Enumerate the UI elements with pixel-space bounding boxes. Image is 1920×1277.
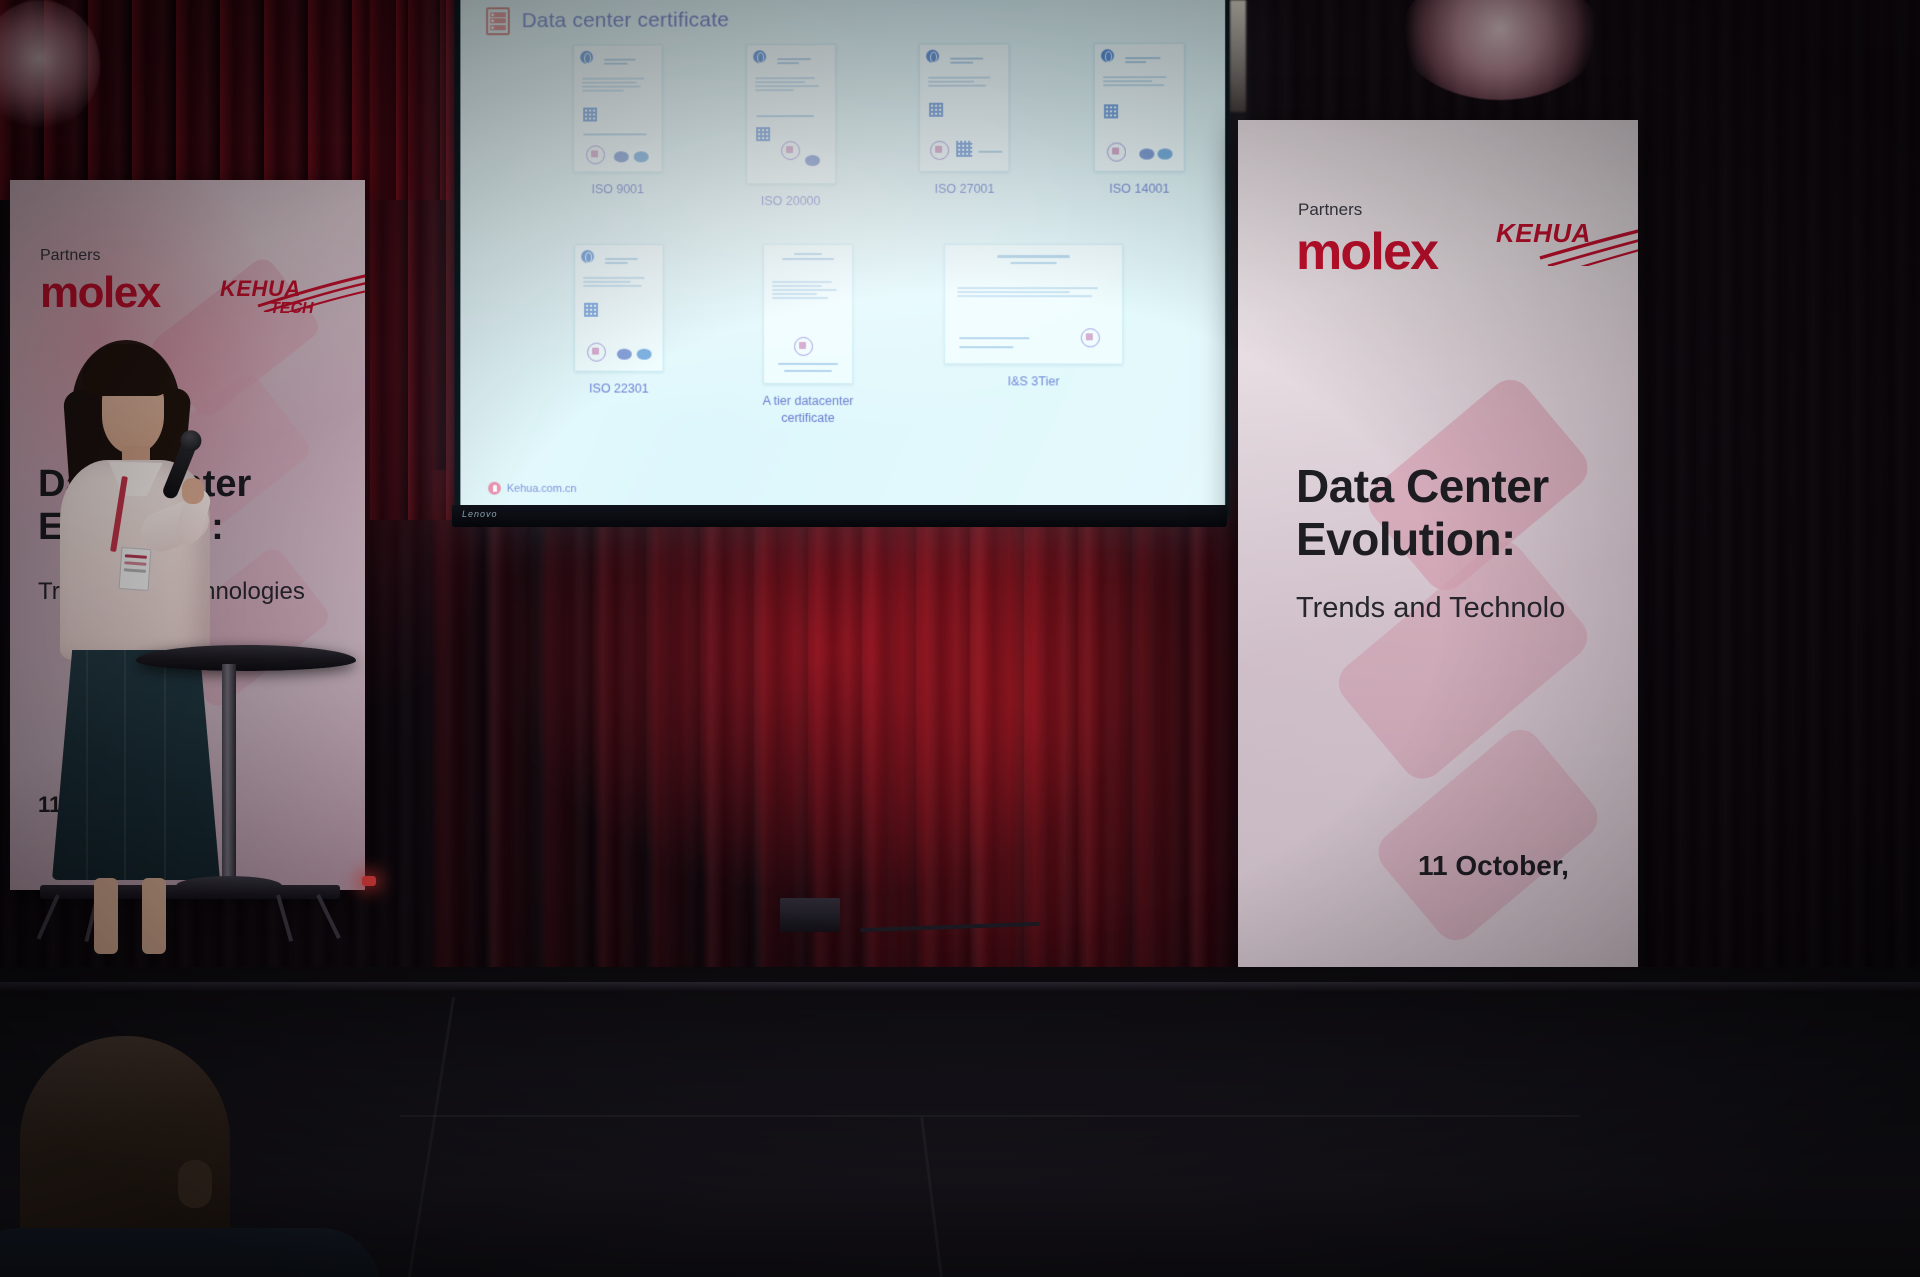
- audience-ear: [178, 1160, 212, 1208]
- audience-shoulder: [0, 1228, 380, 1277]
- certificate-image: [746, 44, 836, 184]
- banner-right-heading-line2: Evolution:: [1296, 513, 1516, 565]
- slide-surface: Data center certificate: [460, 0, 1225, 512]
- certificate-item: ISO 20000: [734, 44, 848, 210]
- banner-right-heading-line1: Data Center: [1296, 460, 1549, 512]
- certificate-image: [919, 43, 1009, 171]
- certificate-image: [1094, 43, 1185, 172]
- certificate-label: ISO 20000: [761, 193, 821, 210]
- certificate-item: ISO 27001: [908, 43, 1022, 209]
- certificate-item: ISO 9001: [561, 45, 674, 211]
- banner-right-partners-label: Partners: [1298, 200, 1362, 220]
- certificate-item: I&S 3Tier: [938, 244, 1129, 428]
- iaf-badge-icon: [617, 349, 632, 360]
- certificate-item: ISO 14001: [1082, 43, 1197, 210]
- floor-equipment-box: [780, 898, 840, 932]
- kehua-logo-icon: [488, 482, 501, 495]
- projector-brand-label: Lenovo: [462, 509, 498, 519]
- slide-footer: Kehua.com.cn: [488, 482, 576, 495]
- certificate-label: ISO 27001: [935, 181, 995, 198]
- certificate-label: I&S 3Tier: [1008, 373, 1060, 390]
- certificate-row-1: ISO 9001: [500, 43, 1197, 210]
- official-seal-icon: [1107, 143, 1126, 162]
- conference-photo: Data center certificate: [0, 0, 1920, 1277]
- cnas-badge-icon: [634, 151, 649, 162]
- certificate-label: ISO 14001: [1109, 181, 1169, 198]
- cepri-logo-icon: [753, 50, 766, 63]
- official-seal-icon: [781, 141, 800, 160]
- iaf-badge-icon: [805, 155, 820, 166]
- banner-right-heading: Data Center Evolution:: [1296, 460, 1549, 566]
- screen-bottom-bar: Lenovo: [452, 505, 1227, 527]
- podium-pole: [222, 664, 236, 884]
- iaf-badge-icon: [614, 151, 629, 162]
- banner-left-stand: [40, 885, 340, 945]
- official-seal-icon: [1081, 328, 1100, 347]
- certificate-image: [763, 244, 853, 384]
- certificate-image: [573, 45, 662, 173]
- certificate-image: [944, 244, 1123, 365]
- certificate-label: A tier datacenter certificate: [748, 393, 868, 427]
- presenter-name-badge: [119, 547, 152, 591]
- certificate-label: ISO 9001: [592, 181, 644, 198]
- official-seal-icon: [794, 337, 813, 356]
- cepri-logo-icon: [580, 51, 593, 64]
- certificate-label: ISO 22301: [589, 380, 648, 397]
- slide-footer-url: Kehua.com.cn: [507, 482, 577, 494]
- slide-title: Data center certificate: [522, 8, 729, 33]
- slide-content: Data center certificate: [460, 0, 1225, 512]
- certificate-row-2: ISO 22301: [500, 244, 1197, 428]
- certificate-grid: ISO 9001: [500, 43, 1197, 428]
- official-seal-icon: [587, 343, 606, 362]
- cepri-logo-icon: [926, 50, 939, 63]
- banner-right-date: 11 October,: [1418, 850, 1569, 882]
- podium-table-top: [136, 645, 356, 671]
- rollup-banner-right: Partners molex KEHUA Data Center Evoluti…: [1238, 120, 1638, 1000]
- official-seal-icon: [930, 141, 949, 160]
- kehua-swoosh-icon: [256, 272, 365, 312]
- certificate-image: [574, 244, 663, 372]
- cnas-badge-icon: [1158, 148, 1173, 159]
- kehua-swoosh-icon: [1538, 216, 1638, 266]
- slide-header: Data center certificate: [486, 6, 729, 35]
- certificate-item: A tier datacenter certificate: [748, 244, 868, 427]
- banner-left-partners-label: Partners: [40, 247, 100, 265]
- banner-left-molex-logo: molex: [40, 268, 160, 318]
- ceiling-light-strip: [1230, 0, 1246, 112]
- podium-base: [176, 876, 282, 896]
- banner-right-subheading: Trends and Technolo: [1296, 592, 1565, 625]
- cnas-badge-icon: [637, 349, 652, 360]
- server-rack-icon: [486, 7, 510, 35]
- projection-screen: Data center certificate: [454, 0, 1229, 518]
- cepri-logo-icon: [581, 250, 594, 263]
- iaf-badge-icon: [1139, 148, 1154, 159]
- stage-indicator-light: [362, 876, 376, 886]
- certificate-item: ISO 22301: [559, 244, 678, 426]
- official-seal-icon: [586, 145, 605, 164]
- cepri-logo-icon: [1101, 49, 1114, 62]
- stage-edge: [0, 982, 1920, 992]
- banner-right-molex-logo: molex: [1296, 222, 1437, 282]
- presenter-skirt: [52, 650, 220, 880]
